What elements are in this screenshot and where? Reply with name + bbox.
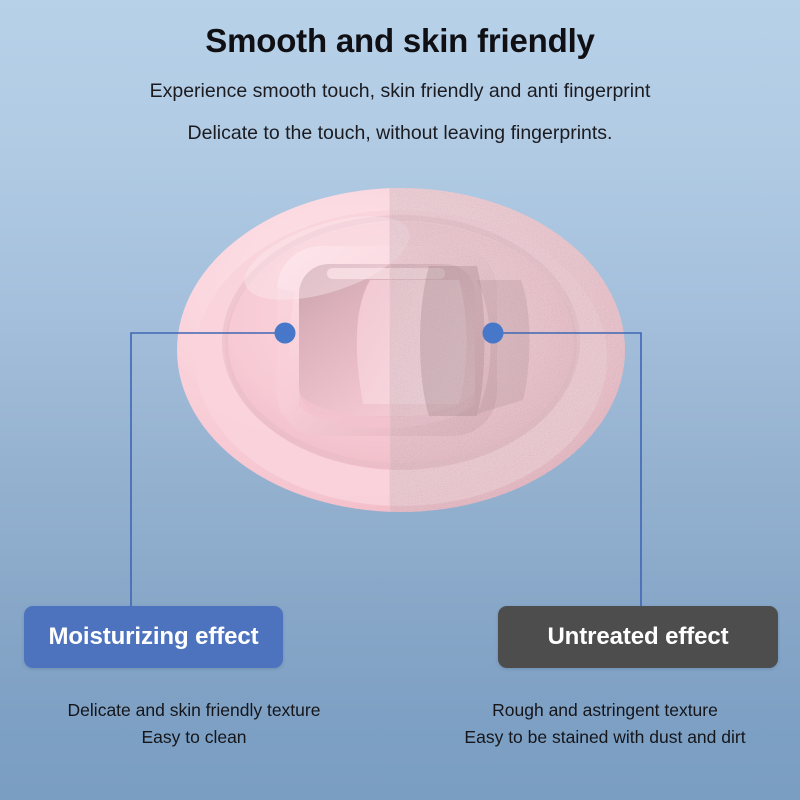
callout-button-moisturizing[interactable]: Moisturizing effect — [24, 606, 283, 668]
rough-half-cavity-shadow — [420, 266, 485, 416]
product-image — [177, 188, 625, 512]
header-block: Smooth and skin friendly Experience smoo… — [0, 0, 800, 145]
caption-moisturizing: Delicate and skin friendly texture Easy … — [0, 697, 388, 751]
caption-moisturizing-line-2: Easy to clean — [0, 724, 388, 751]
finish-split-line — [389, 188, 391, 512]
product-illustration — [177, 188, 625, 512]
caption-untreated: Rough and astringent texture Easy to be … — [410, 697, 800, 751]
caption-untreated-line-2: Easy to be stained with dust and dirt — [410, 724, 800, 751]
page-title: Smooth and skin friendly — [0, 0, 800, 60]
caption-moisturizing-line-1: Delicate and skin friendly texture — [0, 697, 388, 724]
subtitle-line-2: Delicate to the touch, without leaving f… — [0, 103, 800, 145]
callout-label-moisturizing: Moisturizing effect — [48, 623, 258, 651]
promo-banner: Smooth and skin friendly Experience smoo… — [0, 0, 800, 800]
subtitle-line-1: Experience smooth touch, skin friendly a… — [0, 60, 800, 103]
rough-half-group — [390, 188, 625, 512]
callout-label-untreated: Untreated effect — [547, 623, 728, 651]
caption-untreated-line-1: Rough and astringent texture — [410, 697, 800, 724]
callout-button-untreated[interactable]: Untreated effect — [498, 606, 778, 668]
